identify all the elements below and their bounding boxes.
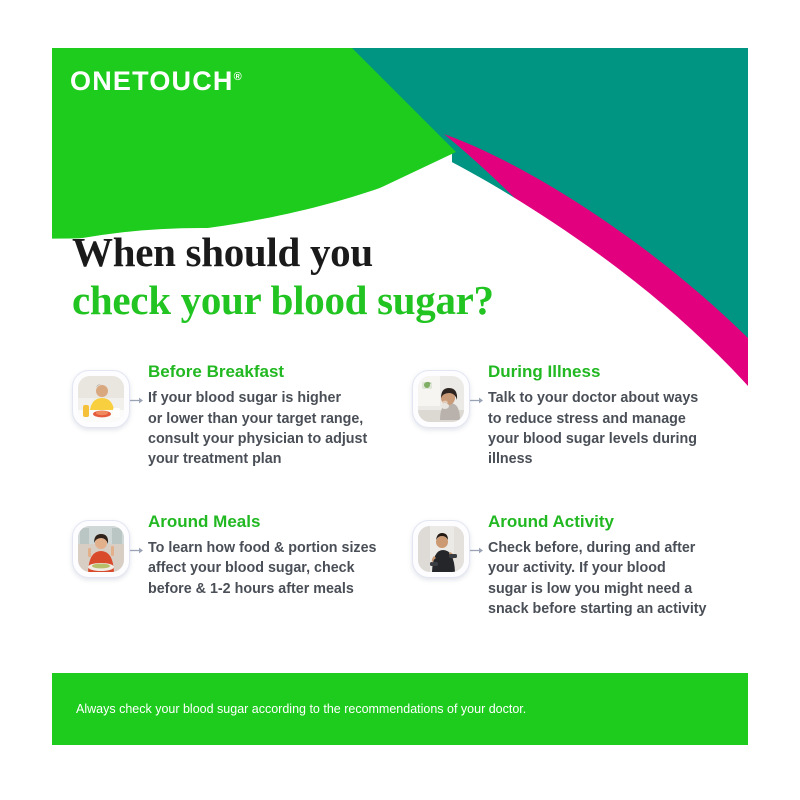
header-artwork: [52, 48, 748, 388]
infographic-poster: ONETOUCH® When should you check your blo…: [0, 0, 800, 800]
tip-card-text: During Illness Talk to your doctor about…: [488, 358, 752, 470]
arrow-right-icon: [470, 396, 484, 405]
photo-art: [418, 376, 464, 422]
photo-woman-feeling-ill: [418, 376, 464, 422]
brand-logo-text: ONETOUCH: [70, 66, 234, 96]
tip-card-body: Check before, during and after your acti…: [488, 538, 752, 619]
tips-row-bottom: Around Meals To learn how food & portion…: [72, 508, 752, 620]
tip-card-around-meals: Around Meals To learn how food & portion…: [72, 508, 412, 620]
tip-card-title: Around Activity: [488, 512, 752, 532]
thumbnail-wrap: [412, 370, 474, 436]
header-shapes-svg: [52, 48, 748, 388]
arrow-right-icon: [470, 546, 484, 555]
photo-art: [78, 526, 124, 572]
thumbnail-frame: [72, 520, 130, 578]
tip-card-title: During Illness: [488, 362, 752, 382]
tip-card-text: Around Meals To learn how food & portion…: [148, 508, 394, 599]
thumbnail-wrap: [72, 370, 134, 436]
footer-disclaimer-text: Always check your blood sugar according …: [52, 701, 526, 717]
tip-card-body: If your blood sugar is higher or lower t…: [148, 388, 394, 469]
footer-banner: Always check your blood sugar according …: [52, 673, 748, 745]
registered-trademark-icon: ®: [234, 71, 242, 83]
tips-grid: Before Breakfast If your blood sugar is …: [72, 358, 752, 619]
photo-art: [418, 526, 464, 572]
photo-woman-eating-meal: [78, 526, 124, 572]
headline-line-1: When should you: [72, 228, 494, 276]
thumbnail-frame: [412, 520, 470, 578]
tip-card-title: Before Breakfast: [148, 362, 394, 382]
page-title: When should you check your blood sugar?: [72, 228, 494, 325]
thumbnail-wrap: [72, 520, 134, 586]
brand-logo: ONETOUCH®: [70, 68, 242, 95]
photo-man-eating-breakfast: [78, 376, 124, 422]
arrow-right-icon: [130, 396, 144, 405]
thumbnail-frame: [72, 370, 130, 428]
thumbnail-frame: [412, 370, 470, 428]
tip-card-around-activity: Around Activity Check before, during and…: [412, 508, 752, 620]
photo-art: [78, 376, 124, 422]
tips-row-top: Before Breakfast If your blood sugar is …: [72, 358, 752, 470]
tip-card-body: To learn how food & portion sizes affect…: [148, 538, 394, 599]
tip-card-body: Talk to your doctor about ways to reduce…: [488, 388, 752, 469]
tip-card-title: Around Meals: [148, 512, 394, 532]
tip-card-text: Around Activity Check before, during and…: [488, 508, 752, 620]
headline-line-2: check your blood sugar?: [72, 276, 494, 324]
photo-man-exercising: [418, 526, 464, 572]
arrow-right-icon: [130, 546, 144, 555]
tip-card-text: Before Breakfast If your blood sugar is …: [148, 358, 394, 470]
thumbnail-wrap: [412, 520, 474, 586]
tip-card-before-breakfast: Before Breakfast If your blood sugar is …: [72, 358, 412, 470]
tip-card-during-illness: During Illness Talk to your doctor about…: [412, 358, 752, 470]
